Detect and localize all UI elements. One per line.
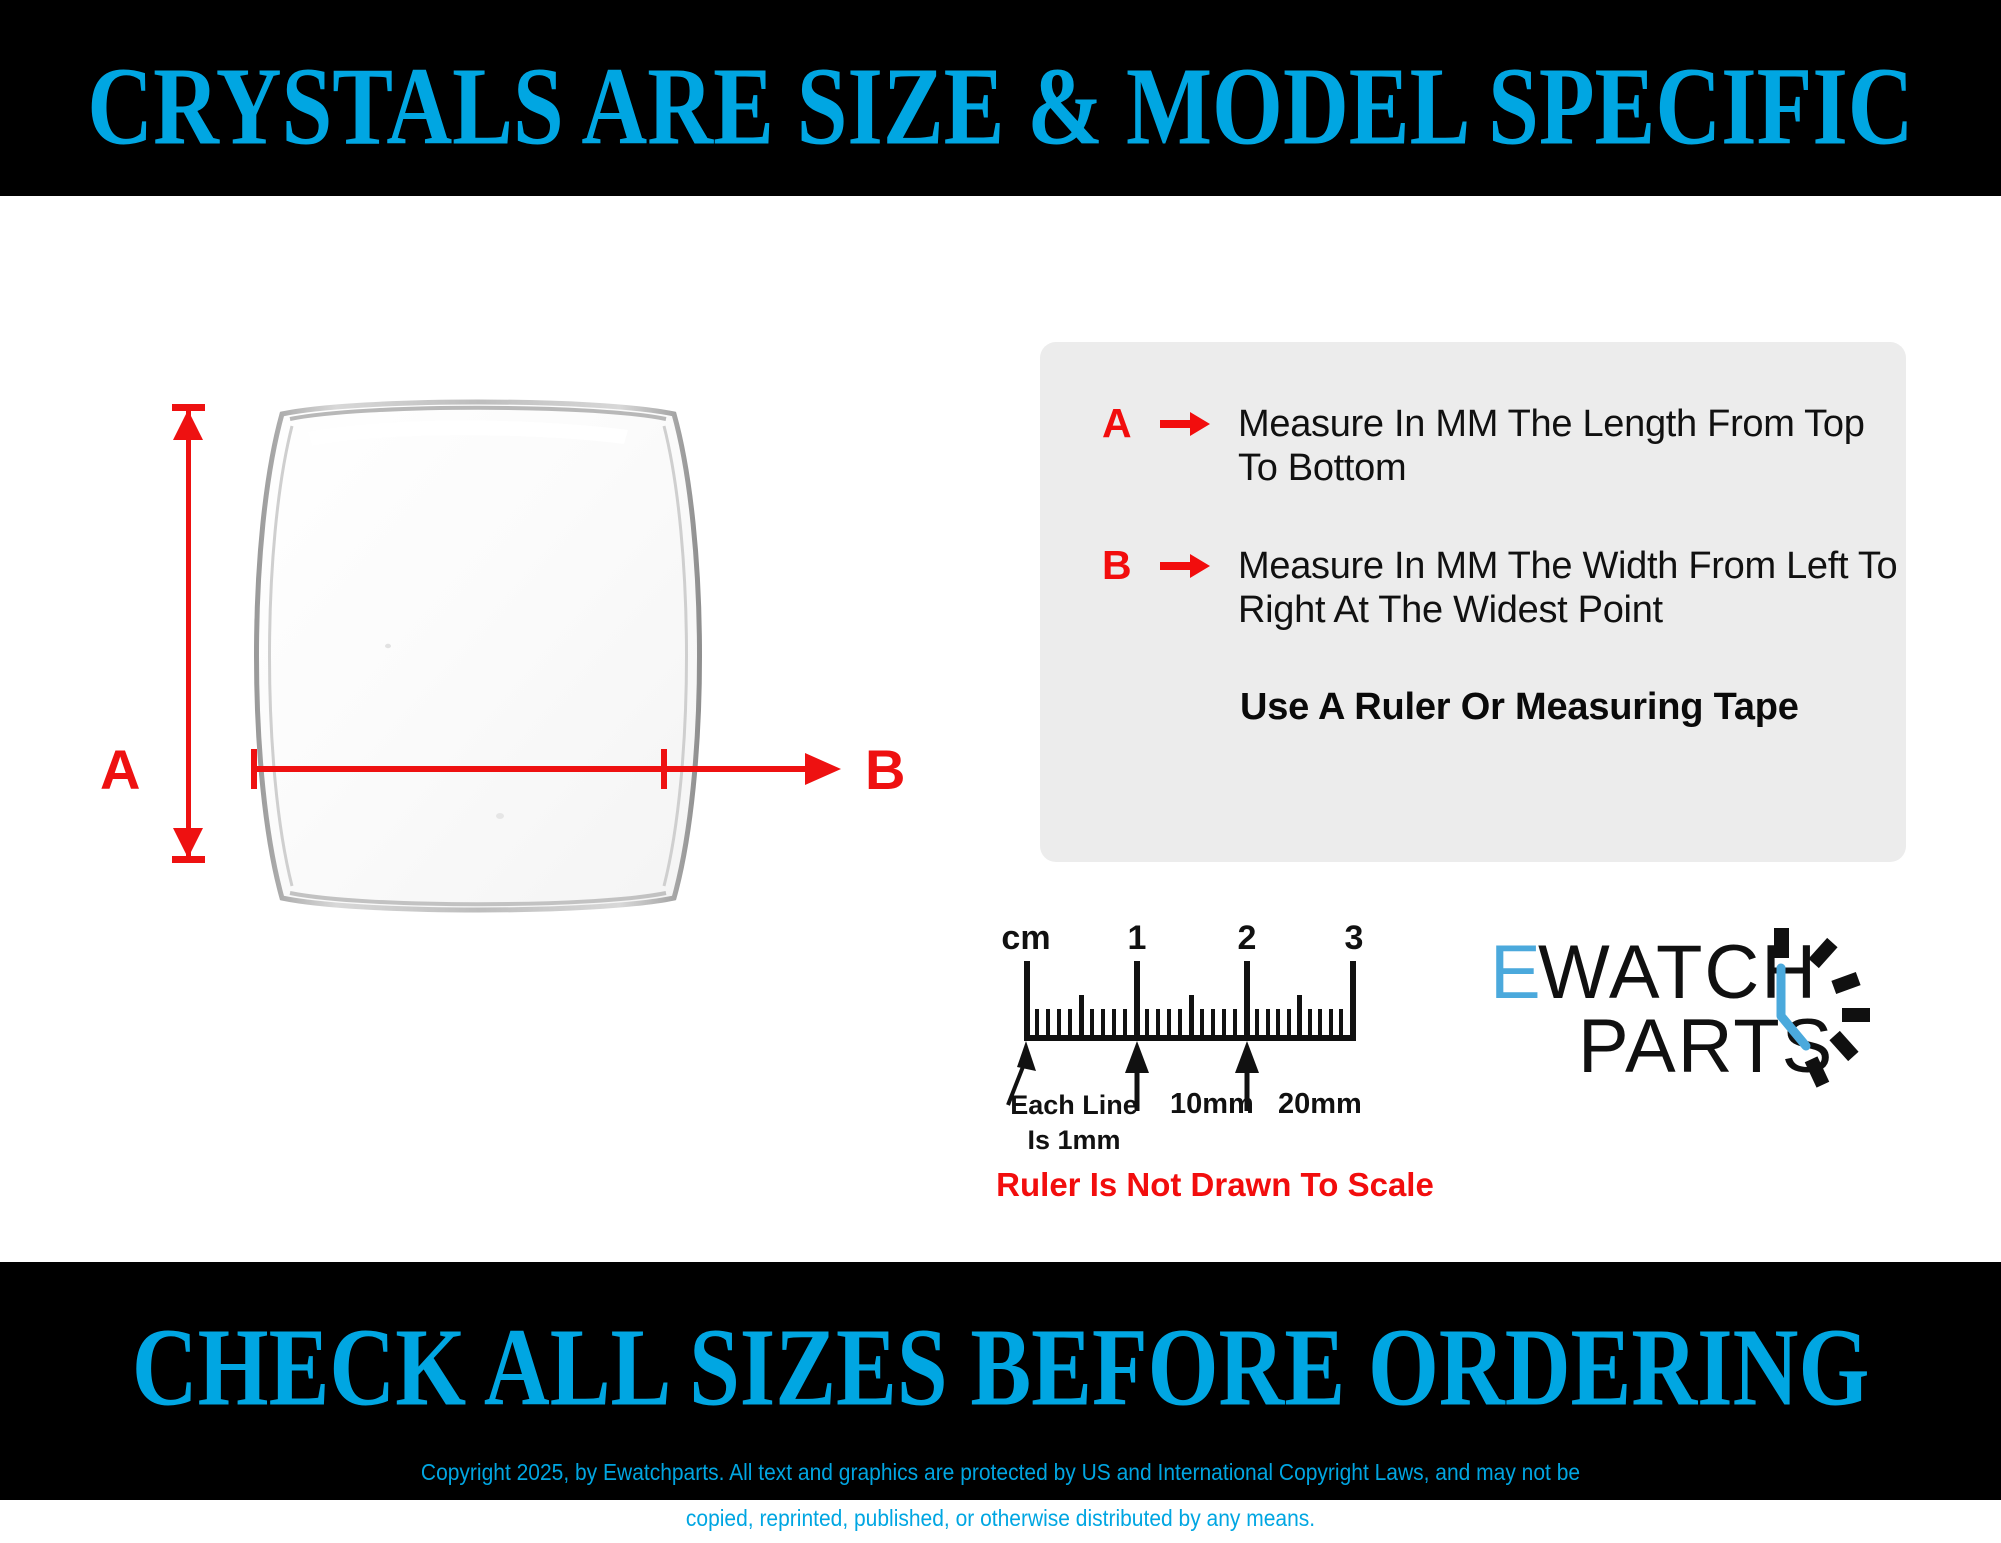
instructions-footer: Use A Ruler Or Measuring Tape [1240, 686, 1906, 729]
dimension-cap-b-right [661, 749, 667, 789]
copyright-notice: Copyright 2025, by Ewatchparts. All text… [0, 1451, 2001, 1543]
instruction-row-a: A Measure In MM The Length From Top To B… [1040, 402, 1906, 490]
dimension-label-a: A [100, 742, 140, 798]
dimension-line-b [254, 766, 819, 772]
ruler-tick-cm-3 [1350, 961, 1356, 1039]
instructions-panel: A Measure In MM The Length From Top To B… [1040, 342, 1906, 862]
ruler-label-2: 2 [1238, 919, 1257, 957]
arrow-down-icon [173, 828, 203, 858]
ruler-tick-cm-1 [1134, 961, 1140, 1039]
crystal-speck-a [385, 644, 391, 648]
ewatchparts-logo[interactable]: E WATCH PARTS [1490, 920, 1870, 1100]
arrow-right-icon [1160, 544, 1214, 588]
bottom-banner-title: CHECK ALL SIZES BEFORE ORDERING [132, 1311, 1870, 1423]
ruler-callout-10mm: 10mm [1170, 1088, 1254, 1121]
top-banner-title: CRYSTALS ARE SIZE & MODEL SPECIFIC [87, 50, 1913, 162]
dimension-line-a [186, 408, 191, 860]
instruction-key-b: B [1102, 544, 1160, 587]
ruler-note-line1: Each Line [984, 1088, 1164, 1123]
arrow-right-icon [1160, 402, 1214, 446]
ruler-tick-half-2 [1297, 995, 1302, 1039]
crystal-speck-b [496, 813, 504, 819]
ruler-label-cm: cm [1001, 919, 1050, 957]
ruler-label-3: 3 [1345, 919, 1364, 957]
instruction-row-b: B Measure In MM The Width From Left To R… [1040, 544, 1906, 632]
watch-crystal-image [238, 386, 718, 926]
instruction-key-a: A [1102, 402, 1160, 445]
top-banner: CRYSTALS ARE SIZE & MODEL SPECIFIC [0, 0, 2001, 196]
arrow-up-icon [173, 410, 203, 440]
ruler-note-line2: Is 1mm [984, 1123, 1164, 1158]
bottom-banner: CHECK ALL SIZES BEFORE ORDERING Copyrigh… [0, 1262, 2001, 1500]
ruler-disclaimer: Ruler Is Not Drawn To Scale [980, 1166, 1450, 1204]
crystal-diagram: A B [0, 196, 1000, 1262]
arrow-right-icon [805, 753, 841, 785]
infographic-page: CRYSTALS ARE SIZE & MODEL SPECIFIC [0, 0, 2001, 1500]
dimension-cap-b-left [251, 749, 257, 789]
ruler-callout-20mm: 20mm [1278, 1088, 1362, 1121]
copyright-line-2: copied, reprinted, published, or otherwi… [0, 1497, 2001, 1543]
logo-word-parts: PARTS [1578, 1004, 1834, 1089]
logo-letter-e: E [1490, 930, 1543, 1015]
crystal-body [257, 402, 700, 910]
logo-svg: E WATCH PARTS [1490, 920, 1870, 1100]
ruler-tick-half-0 [1079, 995, 1084, 1039]
copyright-line-1: Copyright 2025, by Ewatchparts. All text… [0, 1451, 2001, 1497]
ruler-tick-cm-2 [1244, 961, 1250, 1039]
ruler-label-1: 1 [1128, 919, 1147, 957]
dimension-label-b: B [865, 742, 905, 798]
ruler-note-each-line: Each Line Is 1mm [984, 1088, 1164, 1157]
crystal-shape-svg [238, 386, 718, 926]
ruler-tick-cm-0 [1024, 961, 1030, 1039]
instruction-text-b: Measure In MM The Width From Left To Rig… [1214, 544, 1906, 632]
ruler-tick-half-1 [1189, 995, 1194, 1039]
instruction-text-a: Measure In MM The Length From Top To Bot… [1214, 402, 1906, 490]
